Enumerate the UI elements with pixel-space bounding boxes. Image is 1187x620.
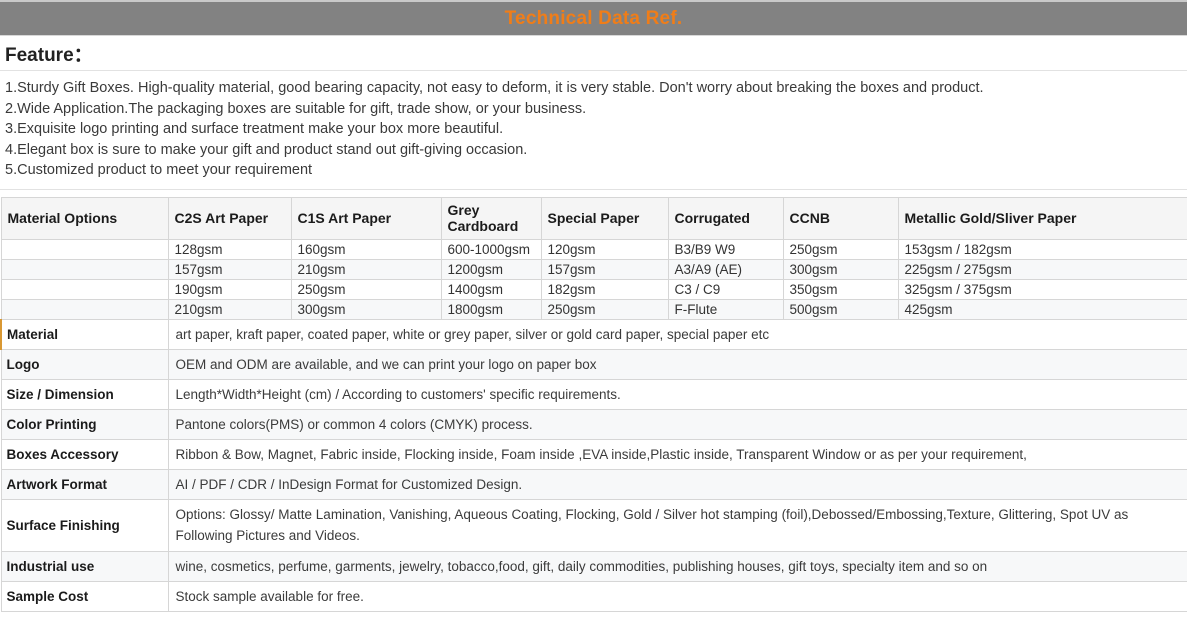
spec-label-industrial-use: Industrial use [1, 551, 168, 581]
spec-row-size-dimension: Size / Dimension Length*Width*Height (cm… [1, 379, 1187, 409]
column-header-corrugated: Corrugated [668, 197, 783, 239]
cell-material-options [1, 279, 168, 299]
cell-corrugated: A3/A9 (AE) [668, 259, 783, 279]
spec-label-size-dimension: Size / Dimension [1, 379, 168, 409]
cell-c2s: 157gsm [168, 259, 291, 279]
spec-row-industrial-use: Industrial use wine, cosmetics, perfume,… [1, 551, 1187, 581]
cell-material-options [1, 299, 168, 319]
feature-list: 1.Sturdy Gift Boxes. High-quality materi… [0, 71, 1187, 190]
column-header-c1s-art-paper: C1S Art Paper [291, 197, 441, 239]
cell-c1s: 300gsm [291, 299, 441, 319]
cell-ccnb: 500gsm [783, 299, 898, 319]
spec-row-color-printing: Color Printing Pantone colors(PMS) or co… [1, 409, 1187, 439]
feature-item: 5.Customized product to meet your requir… [5, 160, 1187, 181]
spec-label-surface-finishing: Surface Finishing [1, 499, 168, 551]
feature-heading: Feature： [5, 40, 93, 67]
column-header-material-options: Material Options [1, 197, 168, 239]
cell-metallic: 225gsm / 275gsm [898, 259, 1187, 279]
cell-c2s: 128gsm [168, 239, 291, 259]
cell-ccnb: 250gsm [783, 239, 898, 259]
spec-label-color-printing: Color Printing [1, 409, 168, 439]
column-header-special-paper: Special Paper [541, 197, 668, 239]
spec-value-industrial-use: wine, cosmetics, perfume, garments, jewe… [168, 551, 1187, 581]
spec-label-sample-cost: Sample Cost [1, 581, 168, 611]
cell-material-options [1, 259, 168, 279]
spec-row-artwork-format: Artwork Format AI / PDF / CDR / InDesign… [1, 469, 1187, 499]
cell-ccnb: 350gsm [783, 279, 898, 299]
table-row: 190gsm 250gsm 1400gsm 182gsm C3 / C9 350… [1, 279, 1187, 299]
feature-item: 1.Sturdy Gift Boxes. High-quality materi… [5, 78, 1187, 99]
feature-item: 2.Wide Application.The packaging boxes a… [5, 99, 1187, 120]
spec-label-boxes-accessory: Boxes Accessory [1, 439, 168, 469]
cell-special-paper: 157gsm [541, 259, 668, 279]
spec-value-artwork-format: AI / PDF / CDR / InDesign Format for Cus… [168, 469, 1187, 499]
cell-special-paper: 250gsm [541, 299, 668, 319]
spec-row-boxes-accessory: Boxes Accessory Ribbon & Bow, Magnet, Fa… [1, 439, 1187, 469]
spec-value-logo: OEM and ODM are available, and we can pr… [168, 349, 1187, 379]
cell-grey-cardboard: 1800gsm [441, 299, 541, 319]
technical-data-page: Technical Data Ref. Feature： 1.Sturdy Gi… [0, 0, 1187, 620]
spec-row-material: Material art paper, kraft paper, coated … [1, 319, 1187, 349]
cell-metallic: 425gsm [898, 299, 1187, 319]
cell-c2s: 210gsm [168, 299, 291, 319]
spec-label-artwork-format: Artwork Format [1, 469, 168, 499]
spec-value-boxes-accessory: Ribbon & Bow, Magnet, Fabric inside, Flo… [168, 439, 1187, 469]
column-header-ccnb: CCNB [783, 197, 898, 239]
cell-grey-cardboard: 1200gsm [441, 259, 541, 279]
spec-label-material: Material [1, 319, 168, 349]
spec-value-material: art paper, kraft paper, coated paper, wh… [168, 319, 1187, 349]
spec-value-size-dimension: Length*Width*Height (cm) / According to … [168, 379, 1187, 409]
table-row: 128gsm 160gsm 600-1000gsm 120gsm B3/B9 W… [1, 239, 1187, 259]
column-header-c2s-art-paper: C2S Art Paper [168, 197, 291, 239]
cell-special-paper: 120gsm [541, 239, 668, 259]
title-banner: Technical Data Ref. [0, 0, 1187, 36]
cell-ccnb: 300gsm [783, 259, 898, 279]
page-title: Technical Data Ref. [505, 9, 683, 28]
cell-corrugated: B3/B9 W9 [668, 239, 783, 259]
column-header-metallic-paper: Metallic Gold/Sliver Paper [898, 197, 1187, 239]
cell-c2s: 190gsm [168, 279, 291, 299]
cell-grey-cardboard: 1400gsm [441, 279, 541, 299]
spec-label-logo: Logo [1, 349, 168, 379]
table-row: 157gsm 210gsm 1200gsm 157gsm A3/A9 (AE) … [1, 259, 1187, 279]
cell-material-options [1, 239, 168, 259]
spec-value-color-printing: Pantone colors(PMS) or common 4 colors (… [168, 409, 1187, 439]
cell-grey-cardboard: 600-1000gsm [441, 239, 541, 259]
cell-corrugated: F-Flute [668, 299, 783, 319]
spec-value-sample-cost: Stock sample available for free. [168, 581, 1187, 611]
cell-metallic: 325gsm / 375gsm [898, 279, 1187, 299]
cell-c1s: 210gsm [291, 259, 441, 279]
spec-row-surface-finishing: Surface Finishing Options: Glossy/ Matte… [1, 499, 1187, 551]
specification-table: Material Options C2S Art Paper C1S Art P… [0, 197, 1187, 612]
cell-metallic: 153gsm / 182gsm [898, 239, 1187, 259]
feature-item: 4.Elegant box is sure to make your gift … [5, 140, 1187, 161]
spec-value-surface-finishing: Options: Glossy/ Matte Lamination, Vanis… [168, 499, 1187, 551]
cell-c1s: 250gsm [291, 279, 441, 299]
spec-row-sample-cost: Sample Cost Stock sample available for f… [1, 581, 1187, 611]
feature-heading-row: Feature： [0, 36, 1187, 71]
feature-item: 3.Exquisite logo printing and surface tr… [5, 119, 1187, 140]
cell-c1s: 160gsm [291, 239, 441, 259]
column-header-grey-cardboard: Grey Cardboard [441, 197, 541, 239]
spec-row-logo: Logo OEM and ODM are available, and we c… [1, 349, 1187, 379]
material-table-header-row: Material Options C2S Art Paper C1S Art P… [1, 197, 1187, 239]
cell-special-paper: 182gsm [541, 279, 668, 299]
table-row: 210gsm 300gsm 1800gsm 250gsm F-Flute 500… [1, 299, 1187, 319]
cell-corrugated: C3 / C9 [668, 279, 783, 299]
